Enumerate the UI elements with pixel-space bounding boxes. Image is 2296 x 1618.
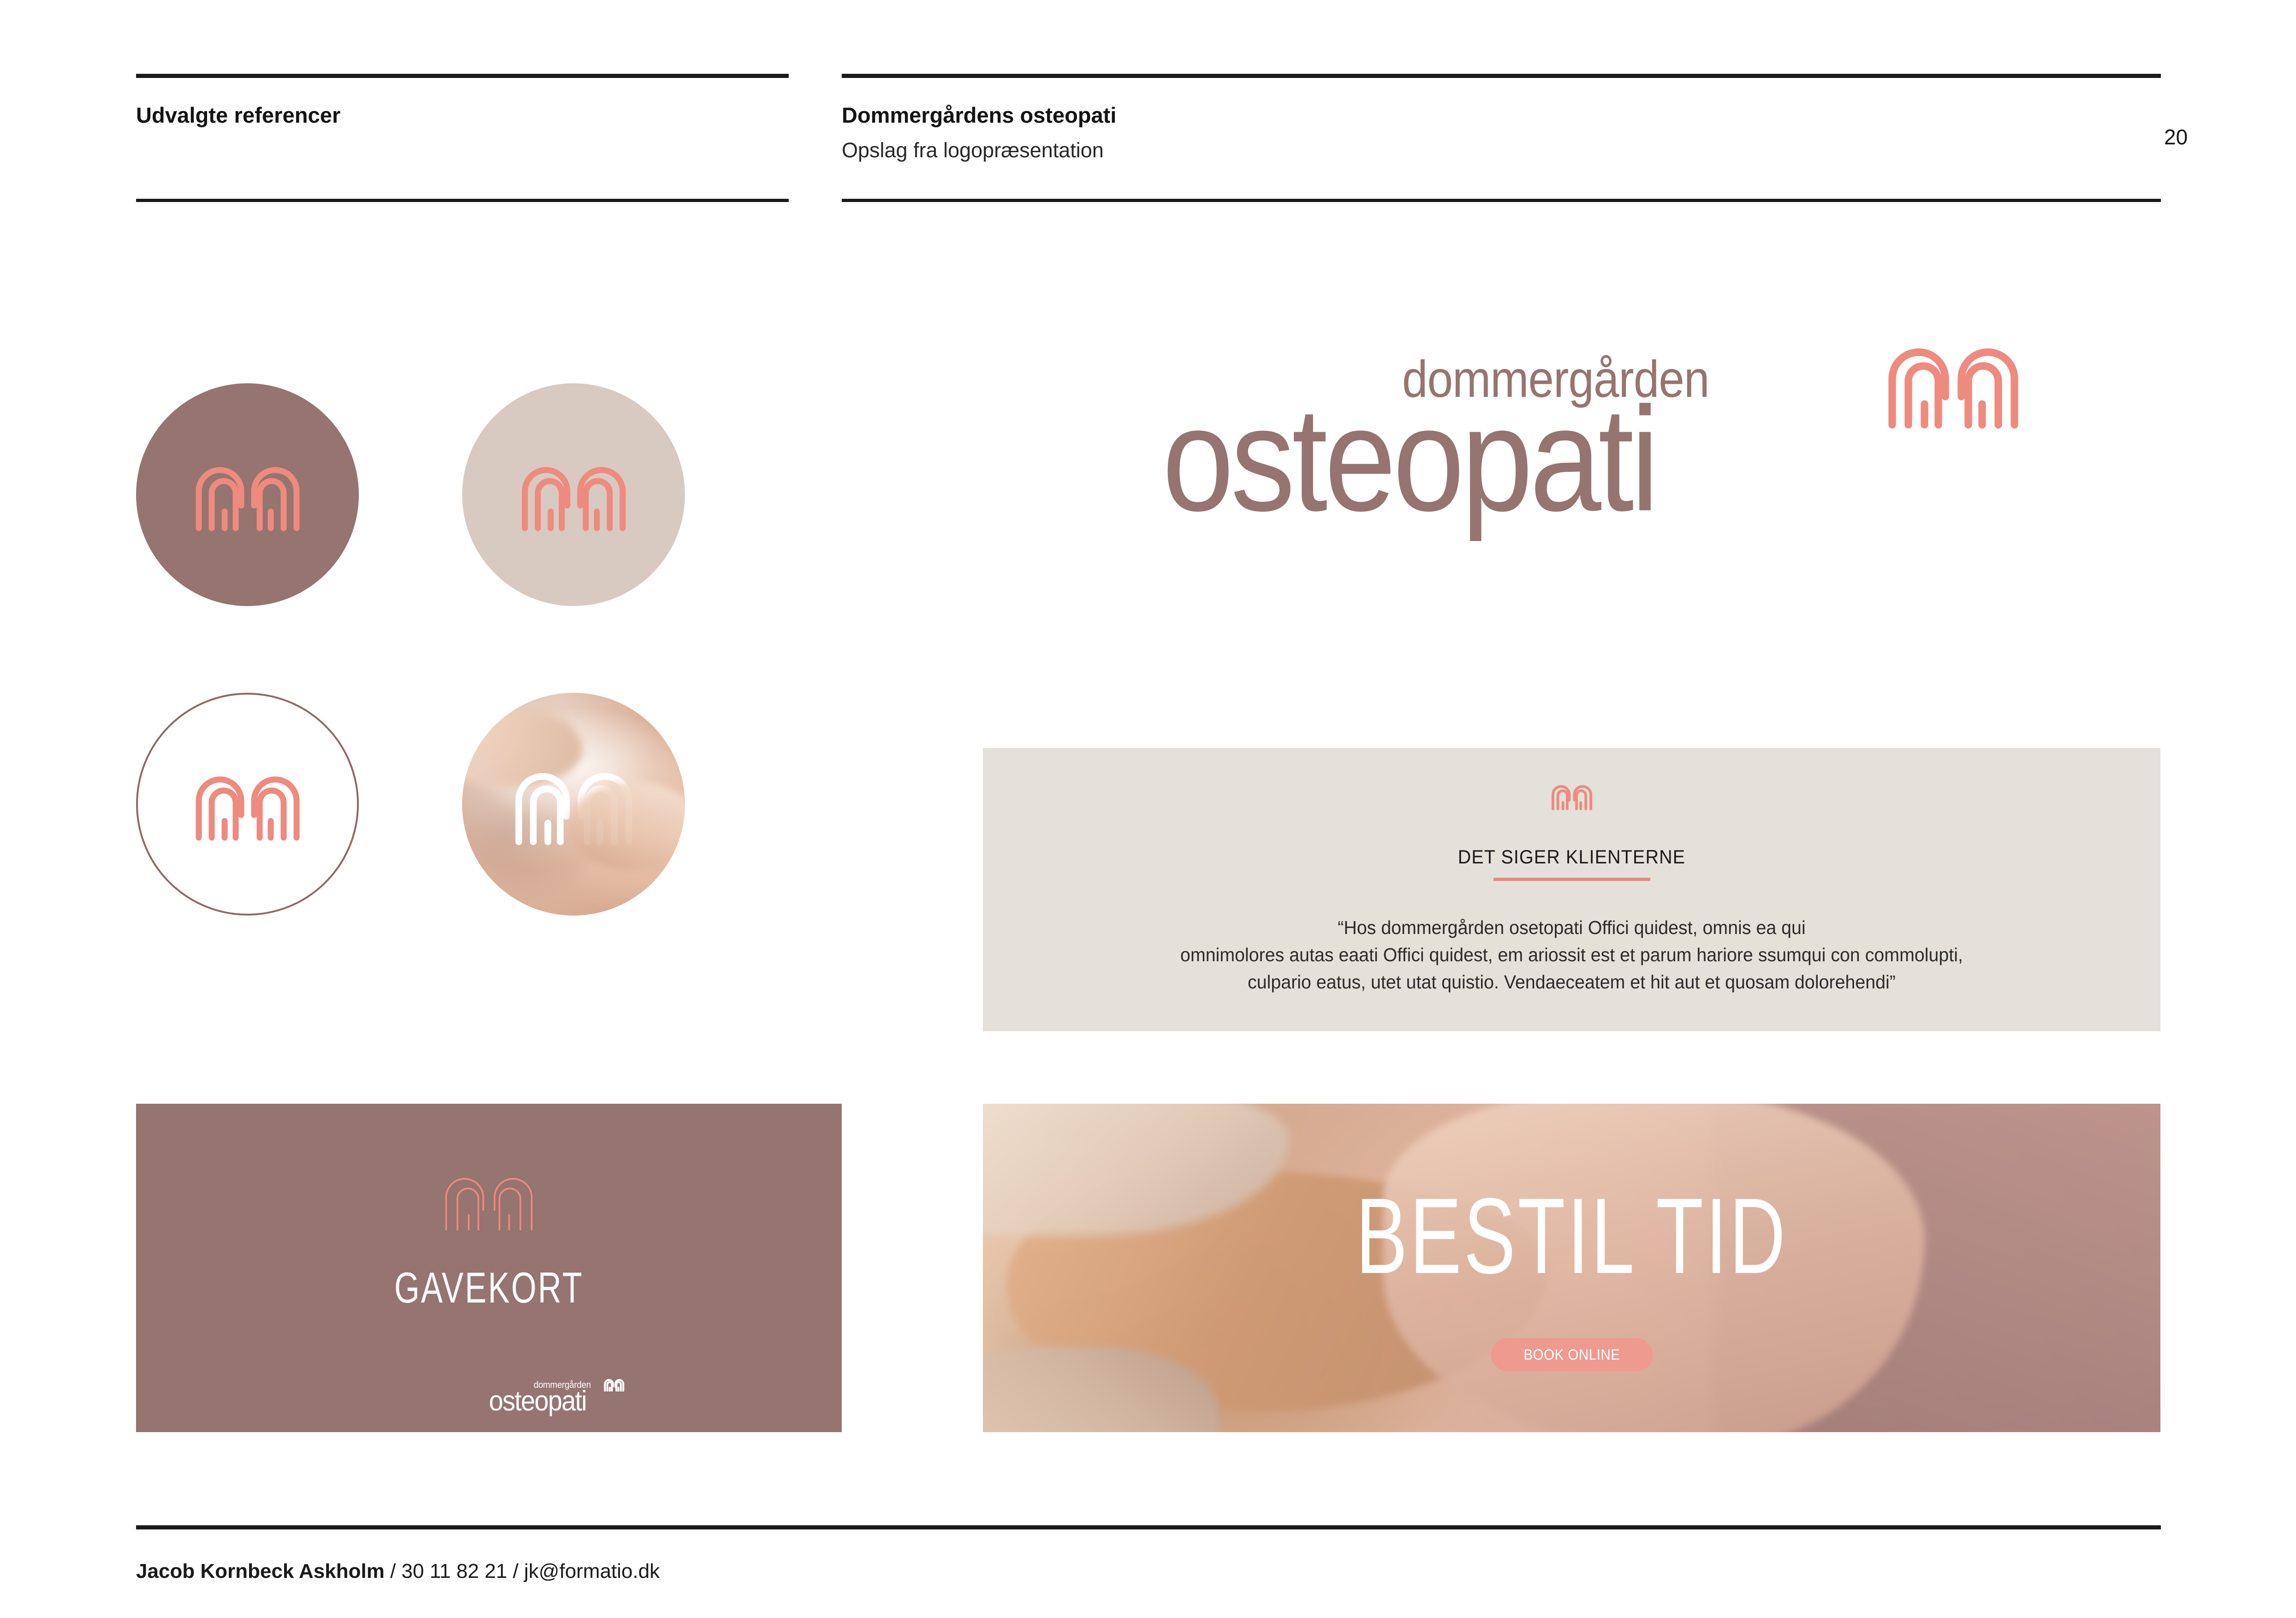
osteopati-hands-mark-icon <box>512 763 636 846</box>
page-title: Dommergårdens osteopati <box>842 102 1116 128</box>
lockup-wordmark-main: osteopati <box>489 1386 586 1415</box>
header-rule-top-left <box>136 74 789 78</box>
banner-headline: BESTIL TID <box>1112 1182 2031 1289</box>
testimonial-quote-line-1: “Hos dommergården osetopati Offici quide… <box>1006 914 2137 941</box>
bestil-tid-banner: BESTIL TID BOOK ONLINE <box>983 1104 2160 1432</box>
logo-badge-outline <box>136 693 359 916</box>
header-rule-top-right <box>842 74 2161 78</box>
footer-credit: Jacob Kornbeck Askholm / 30 11 82 21 / j… <box>136 1560 660 1583</box>
osteopati-hands-mark-icon <box>192 767 303 841</box>
gift-card-title: GAVEKORT <box>207 1263 771 1313</box>
footer-author: Jacob Kornbeck Askholm <box>136 1560 385 1582</box>
osteopati-hands-mark-icon <box>604 1378 625 1392</box>
logo-badge-beige <box>462 383 685 606</box>
header-rule-bottom-left <box>136 199 789 202</box>
testimonial-heading: DET SIGER KLIENTERNE <box>1018 846 2125 868</box>
presentation-slide: Udvalgte referencer Dommergårdens osteop… <box>0 0 2296 1618</box>
osteopati-hands-mark-icon <box>1884 337 2022 429</box>
logo-wordmark-main: osteopati <box>1162 385 1656 533</box>
book-online-button[interactable]: BOOK ONLINE <box>1491 1338 1653 1371</box>
testimonial-card: DET SIGER KLIENTERNE “Hos dommergården o… <box>983 748 2160 1031</box>
testimonial-quote-line-3: culpario eatus, utet utat quistio. Venda… <box>1006 969 2137 996</box>
book-online-button-label: BOOK ONLINE <box>1523 1338 1620 1371</box>
page-subtitle: Opslag fra logopræsentation <box>842 138 1104 162</box>
logo-badge-solid-mauve <box>136 383 359 606</box>
logo-badge-photo <box>462 693 685 916</box>
osteopati-hands-mark-icon <box>440 1168 537 1233</box>
testimonial-quote-line-2: omnimolores autas eaati Offici quidest, … <box>1006 941 2137 969</box>
footer-rule <box>136 1525 2161 1529</box>
header-rule-bottom-right <box>842 199 2161 202</box>
osteopati-hands-mark-icon <box>192 458 303 532</box>
footer-contact: / 30 11 82 21 / jk@formatio.dk <box>385 1560 660 1582</box>
testimonial-divider <box>1493 878 1650 881</box>
testimonial-quote: “Hos dommergården osetopati Offici quide… <box>1006 914 2137 996</box>
gift-card-mockup: GAVEKORT dommergården osteopati <box>136 1104 842 1432</box>
osteopati-hands-mark-icon <box>1550 782 1593 810</box>
osteopati-hands-mark-icon <box>518 458 629 532</box>
main-logo-lockup: dommergården osteopati <box>1162 344 2025 574</box>
page-number: 20 <box>2164 125 2229 149</box>
section-label: Udvalgte referencer <box>136 102 340 128</box>
